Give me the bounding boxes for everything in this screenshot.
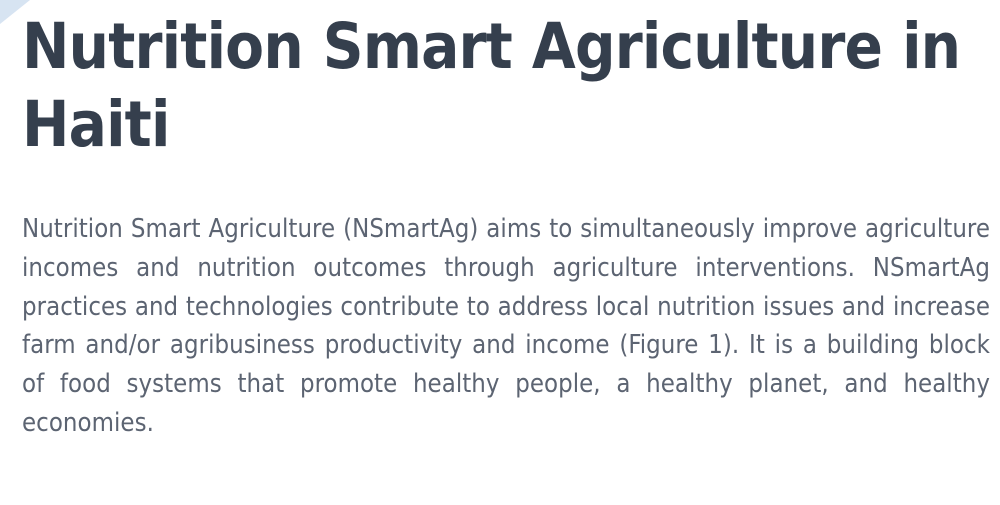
body-content: Nutrition Smart Agriculture (NSmartAg) a… — [22, 164, 990, 482]
intro-paragraph: Nutrition Smart Agriculture (NSmartAg) a… — [22, 210, 990, 482]
document-page: Nutrition Smart Agriculture in Haiti Nut… — [0, 0, 1000, 505]
page-title: Nutrition Smart Agriculture in Haiti — [22, 0, 982, 164]
